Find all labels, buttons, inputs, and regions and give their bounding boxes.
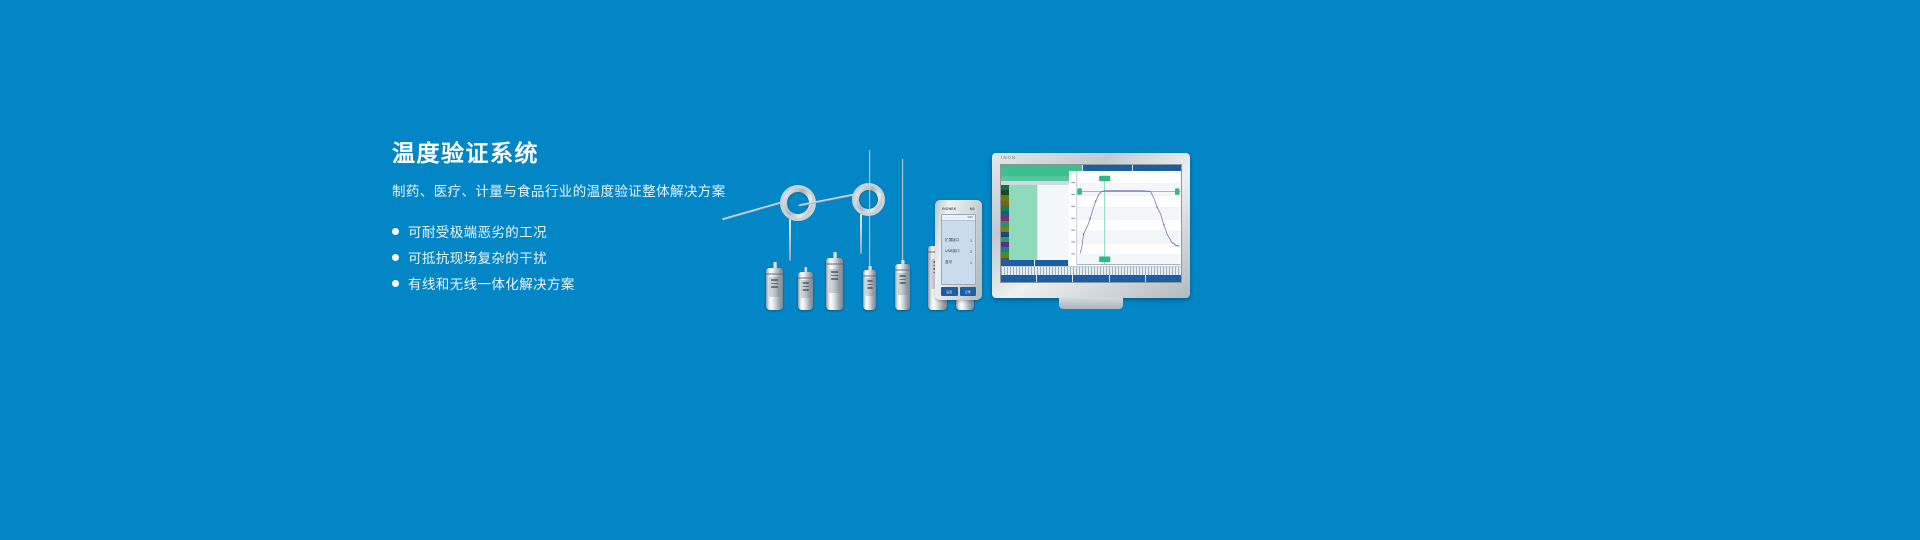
toolbar-button-settings[interactable] xyxy=(1110,275,1145,282)
monitor-bezel: INON xyxy=(992,153,1190,298)
table-body[interactable] xyxy=(1001,185,1069,260)
temperature-curve xyxy=(1081,191,1180,254)
chart-svg xyxy=(1069,171,1181,266)
probe-needle-long xyxy=(863,210,876,310)
handheld-row-label: 扩展接口 xyxy=(945,238,959,243)
validation-software-monitor: INON xyxy=(992,153,1190,298)
handheld-brand-row: INONEK M1 xyxy=(939,204,978,213)
list-item[interactable]: USB接口 2 xyxy=(945,246,972,257)
monitor-screen[interactable] xyxy=(1000,164,1182,283)
handheld-wifi-icon: WIFI xyxy=(968,216,973,219)
bullet-dot-icon xyxy=(392,228,399,235)
setpoint-handle-left xyxy=(1078,188,1082,194)
toolbar-button-acquire[interactable] xyxy=(1001,275,1036,282)
bullet-dot-icon xyxy=(392,254,399,261)
handheld-row-value: 1 xyxy=(970,261,972,265)
list-item[interactable]: 扩展接口 1 xyxy=(945,235,972,246)
software-toolbar xyxy=(1001,275,1181,282)
hero-banner: 温度验证系统 制药、医疗、计量与食品行业的温度验证整体解决方案 可耐受极端恶劣的… xyxy=(0,0,1920,540)
list-item[interactable]: 蓝牙 1 xyxy=(945,257,972,268)
product-photo: INONEK M1 WIFI 扩展接口 1 USB接口 2 xyxy=(720,125,1220,310)
toolbar-button-exit[interactable] xyxy=(1146,275,1181,282)
chart-y-ticks xyxy=(1072,182,1076,254)
handheld-row-value: 1 xyxy=(970,239,972,243)
handheld-brand: INONEK xyxy=(942,207,956,211)
handheld-row-value: 2 xyxy=(970,250,972,254)
channel-data-table[interactable] xyxy=(1001,171,1069,266)
handheld-row-label: 蓝牙 xyxy=(945,260,952,265)
handheld-menu: 扩展接口 1 USB接口 2 蓝牙 1 xyxy=(942,221,975,284)
handheld-screen[interactable]: WIFI 扩展接口 1 USB接口 2 蓝牙 1 xyxy=(941,214,976,285)
cursor-label-bottom xyxy=(1100,257,1111,263)
monitor-brand: INON xyxy=(1001,155,1016,160)
monitor-stand xyxy=(1059,298,1123,309)
handheld-model: M1 xyxy=(970,207,975,211)
feature-label: 可抵抗现场复杂的干扰 xyxy=(408,247,547,267)
feature-label: 可耐受极端恶劣的工况 xyxy=(408,221,547,241)
handheld-key-settings[interactable]: 设置 xyxy=(941,287,958,296)
setpoint-handle-right xyxy=(1175,188,1179,194)
toolbar-button-report[interactable] xyxy=(1073,275,1108,282)
handheld-keypad: 设置 记录 xyxy=(941,287,976,296)
chart-horizontal-scrollbar[interactable] xyxy=(1001,266,1181,275)
feature-label: 有线和无线一体化解决方案 xyxy=(408,273,575,293)
probe-needle-long-2 xyxy=(895,202,910,310)
handheld-row-label: USB接口 xyxy=(945,249,960,254)
toolbar-button-curve[interactable] xyxy=(1037,275,1072,282)
probe-logger-2 xyxy=(798,255,813,310)
handheld-key-record[interactable]: 记录 xyxy=(960,287,977,296)
software-body xyxy=(1001,171,1181,266)
handheld-reader[interactable]: INONEK M1 WIFI 扩展接口 1 USB接口 2 xyxy=(935,200,982,300)
probe-logger-1 xyxy=(766,248,783,310)
probe-logger-3 xyxy=(826,240,843,310)
temperature-chart[interactable] xyxy=(1069,171,1181,266)
bullet-dot-icon xyxy=(392,280,399,287)
cursor-label-top xyxy=(1100,176,1111,182)
